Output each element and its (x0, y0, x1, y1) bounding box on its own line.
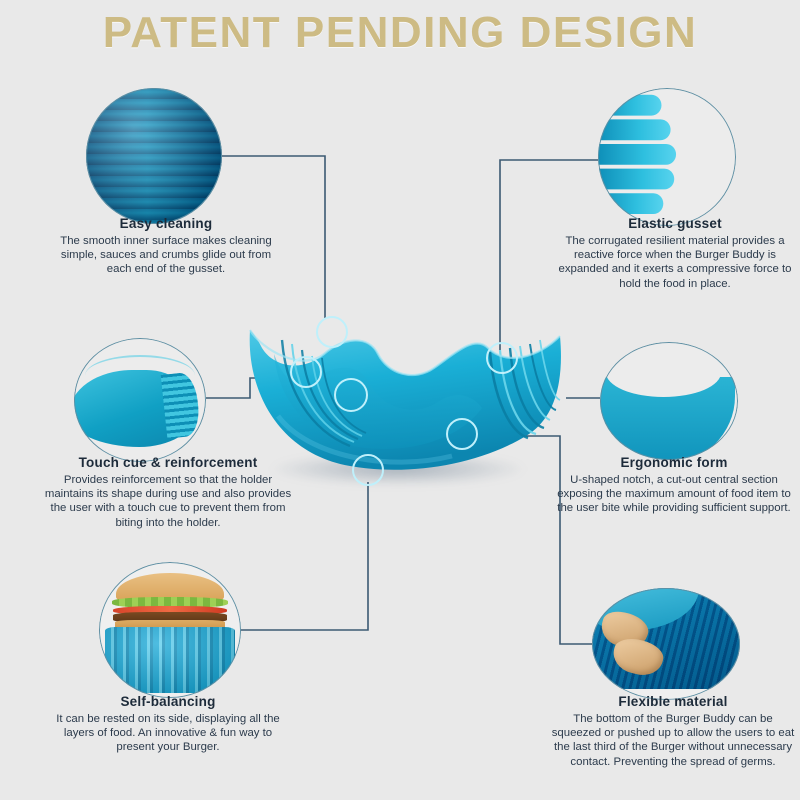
u-notch-shape (600, 377, 735, 460)
callout-ring-touch-cue[interactable] (290, 356, 322, 388)
feature-block-self-balancing: Self-balancing It can be rested on its s… (44, 694, 292, 755)
feature-heading: Self-balancing (44, 694, 292, 709)
callout-ring-center[interactable] (334, 378, 368, 412)
feature-body: The corrugated resilient material provid… (556, 234, 794, 291)
feature-image-elastic-gusset[interactable] (598, 88, 736, 226)
feature-body: The smooth inner surface makes cleaning … (48, 234, 284, 277)
burger-in-holder-icon (99, 562, 241, 698)
silicone-cup (105, 627, 236, 692)
feature-heading: Flexible material (548, 694, 798, 709)
horizontal-corrugation-icon (86, 88, 222, 224)
feature-heading: Easy cleaning (48, 216, 284, 231)
feature-block-elastic-gusset: Elastic gusset The corrugated resilient … (556, 216, 794, 291)
feature-heading: Touch cue & reinforcement (44, 455, 292, 470)
feature-block-flexible-material: Flexible material The bottom of the Burg… (548, 694, 798, 769)
feature-heading: Ergonomic form (552, 455, 796, 470)
feature-body: The bottom of the Burger Buddy can be sq… (548, 712, 798, 769)
feature-body: It can be rested on its side, displaying… (44, 712, 292, 755)
feature-body: Provides reinforcement so that the holde… (44, 473, 292, 530)
page-title: PATENT PENDING DESIGN (0, 8, 800, 58)
reinforcement-ribs (161, 371, 202, 439)
u-shaped-crescent-icon (600, 342, 738, 460)
gusset-lobe-shapes (598, 91, 686, 223)
callout-ring-self-balancing[interactable] (352, 454, 384, 486)
reinforced-rim-icon (74, 338, 206, 462)
callout-ring-flexible-material[interactable] (446, 418, 478, 450)
feature-block-easy-cleaning: Easy cleaning The smooth inner surface m… (48, 216, 284, 277)
feature-block-ergonomic-form: Ergonomic form U-shaped notch, a cut-out… (552, 455, 796, 516)
feature-image-self-balancing[interactable] (99, 562, 241, 698)
fingers-pushing-silicone-icon (592, 588, 740, 700)
feature-heading: Elastic gusset (556, 216, 794, 231)
callout-ring-elastic-gusset[interactable] (486, 342, 518, 374)
callout-ring-easy-cleaning[interactable] (316, 316, 348, 348)
gusset-fingers-icon (598, 88, 736, 226)
feature-image-easy-cleaning[interactable] (86, 88, 222, 224)
feature-image-touch-cue[interactable] (74, 338, 206, 462)
infographic-canvas: PATENT PENDING DESIGN (0, 0, 800, 800)
feature-image-flexible-material[interactable] (592, 588, 740, 700)
feature-block-touch-cue: Touch cue & reinforcement Provides reinf… (44, 455, 292, 530)
feature-image-ergonomic-form[interactable] (600, 342, 738, 460)
feature-body: U-shaped notch, a cut-out central sectio… (552, 473, 796, 516)
